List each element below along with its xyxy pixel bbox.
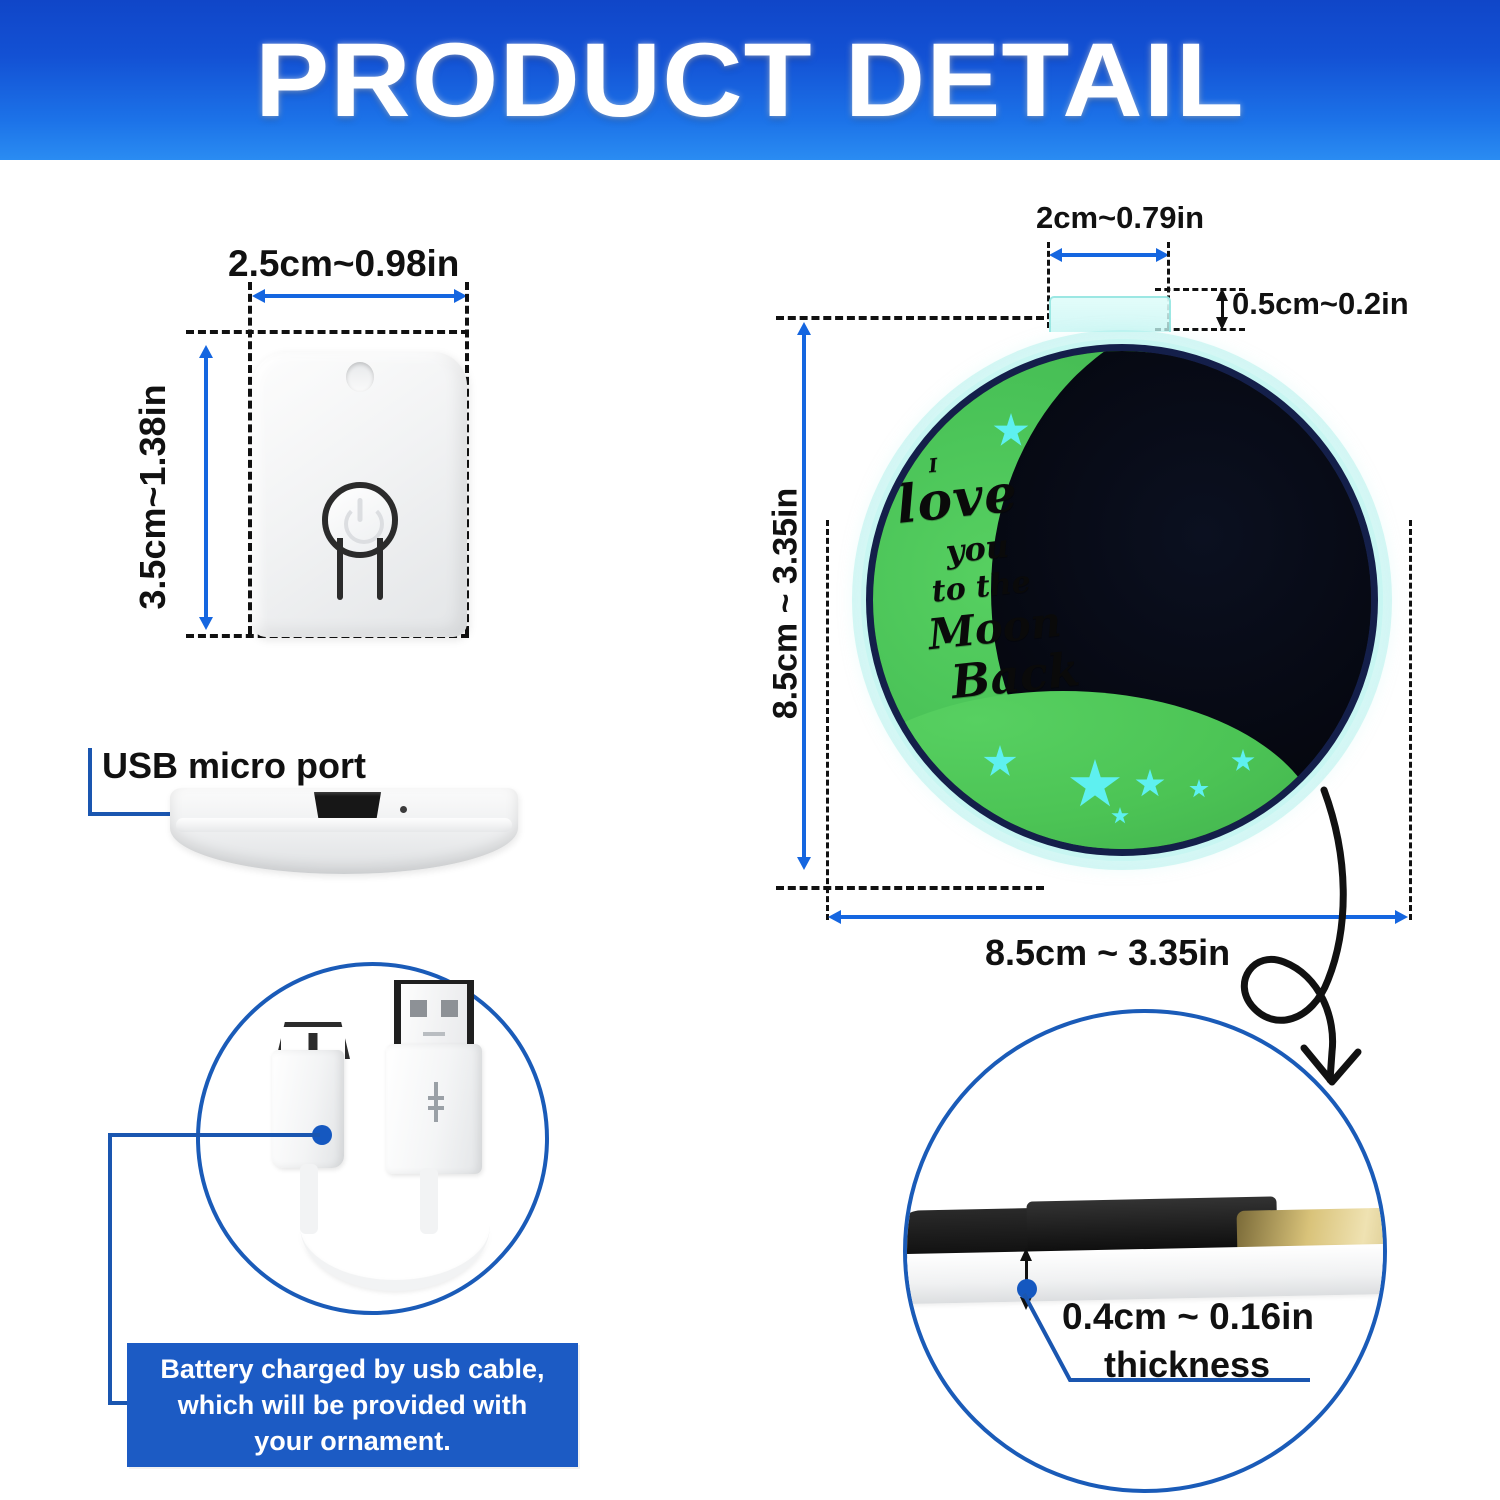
ornament-script-text: I love you to the Moon Back bbox=[892, 440, 1102, 757]
ornament-night-sky: I love you to the Moon Back bbox=[873, 351, 1371, 849]
product-detail-infographic: PRODUCT DETAIL 2.5cm~0.98in 3.5cm~1.38in… bbox=[0, 0, 1500, 1500]
battery-note-callout: Battery charged by usb cable, which will… bbox=[127, 1343, 578, 1467]
led-height-arrow bbox=[199, 345, 213, 630]
led-guide-top bbox=[186, 330, 469, 334]
usb-micro-port-label: USB micro port bbox=[102, 745, 366, 787]
battery-note-line-3: your ornament. bbox=[254, 1423, 451, 1459]
power-button-legs bbox=[337, 538, 383, 600]
micro-usb-port-icon bbox=[311, 792, 384, 818]
usb-trident-icon bbox=[425, 1078, 447, 1124]
tab-height-guide-top bbox=[1155, 288, 1245, 291]
usb-port-leader-vertical bbox=[88, 748, 92, 816]
ornament-guide-bottom bbox=[776, 886, 1044, 890]
pinhole-icon bbox=[400, 806, 407, 813]
tab-height-arrow bbox=[1216, 288, 1230, 330]
ornament-width-label: 8.5cm ~ 3.35in bbox=[985, 932, 1230, 974]
battery-note-line-2: which will be provided with bbox=[178, 1387, 528, 1423]
cable-wire-loop bbox=[300, 1160, 490, 1291]
led-width-label: 2.5cm~0.98in bbox=[228, 243, 459, 285]
thickness-leader-line bbox=[1010, 1288, 1320, 1398]
hanging-hole-icon bbox=[346, 362, 374, 392]
led-width-arrow bbox=[252, 289, 467, 303]
cable-leader-vertical bbox=[108, 1133, 112, 1405]
thickness-detail-circle bbox=[903, 1009, 1387, 1493]
led-height-label: 3.5cm~1.38in bbox=[132, 337, 174, 657]
tab-height-label: 0.5cm~0.2in bbox=[1232, 286, 1409, 322]
ornament-height-label: 8.5cm ~ 3.35in bbox=[767, 444, 806, 764]
ornament-guide-inner-left bbox=[826, 520, 829, 920]
cable-leader-horizontal bbox=[108, 1133, 320, 1137]
tab-width-label: 2cm~0.79in bbox=[1036, 200, 1204, 236]
led-base-side-view bbox=[170, 788, 518, 874]
power-symbol-icon bbox=[340, 496, 380, 540]
ornament-guide-top bbox=[776, 316, 1044, 320]
micro-usb-connector-body bbox=[272, 1050, 344, 1168]
battery-note-line-1: Battery charged by usb cable, bbox=[160, 1351, 544, 1387]
header-banner: PRODUCT DETAIL bbox=[0, 0, 1500, 160]
usb-a-connector-shell-icon bbox=[394, 980, 474, 1050]
page-title: PRODUCT DETAIL bbox=[255, 28, 1245, 133]
tab-width-arrow bbox=[1049, 248, 1169, 262]
ornament-hanger-tab bbox=[1049, 296, 1171, 332]
led-base-front-view bbox=[252, 352, 467, 637]
